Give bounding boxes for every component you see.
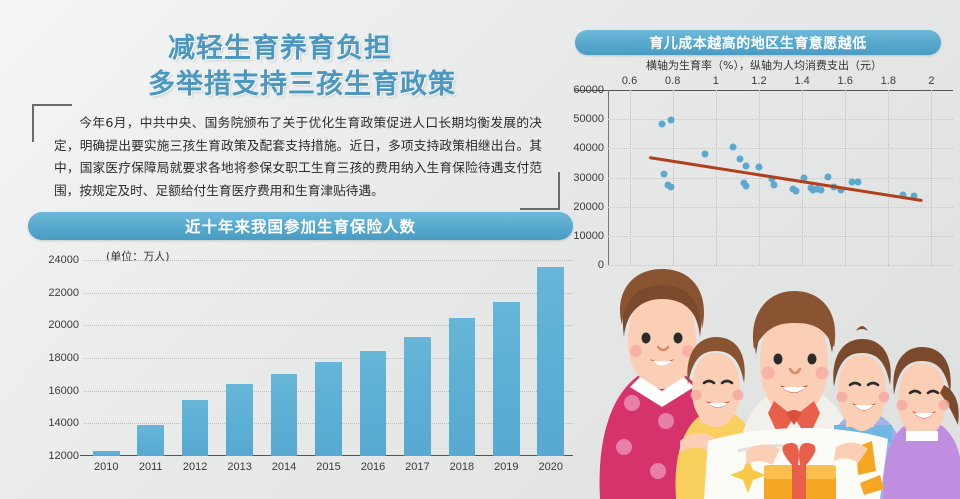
bar-x-tick: 2013 <box>227 461 251 473</box>
bar-x-tick: 2012 <box>183 461 207 473</box>
bar-chart-banner: 近十年来我国参加生育保险人数 <box>28 212 573 240</box>
scatter-point <box>771 181 778 188</box>
bar-x-tick: 2010 <box>94 461 118 473</box>
scatter-point <box>667 183 674 190</box>
scatter-point <box>743 182 750 189</box>
scatter-point <box>667 117 674 124</box>
scatter-hgridline <box>608 148 953 149</box>
scatter-chart-subtitle: 横轴为生育率（%），纵轴为人均消费支出（元） <box>569 57 959 73</box>
bar-chart-bar <box>182 400 209 456</box>
scatter-y-tick: 60000 <box>573 84 604 96</box>
scatter-point <box>661 171 668 178</box>
bar-chart-panel: 近十年来我国参加生育保险人数 (单位：万人) 12000140001600018… <box>28 212 573 487</box>
bar-chart-bar <box>315 362 342 456</box>
bar-y-tick: 18000 <box>48 352 79 364</box>
scatter-point <box>702 151 709 158</box>
bar-chart-bar <box>493 302 520 456</box>
scatter-hgridline <box>608 207 953 208</box>
scatter-y-tick: 40000 <box>573 142 604 154</box>
bar-chart-bar <box>449 318 476 456</box>
scatter-x-tick: 0.6 <box>622 75 637 87</box>
bar-x-tick: 2018 <box>450 461 474 473</box>
scatter-point <box>818 187 825 194</box>
scatter-point <box>855 178 862 185</box>
bar-x-tick: 2015 <box>316 461 340 473</box>
scatter-point <box>658 121 665 128</box>
infographic-root: 减轻生育养育负担 多举措支持三孩生育政策 今年6月，中共中央、国务院颁布了关于优… <box>0 0 960 499</box>
bar-x-tick: 2011 <box>139 461 163 473</box>
bar-y-tick: 12000 <box>48 450 79 462</box>
intro-paragraph-block: 今年6月，中共中央、国务院颁布了关于优化生育政策促进人口长期均衡发展的决定，明确… <box>32 104 560 210</box>
bar-x-tick: 2014 <box>272 461 296 473</box>
scatter-x-tick: 1.4 <box>794 75 809 87</box>
bar-x-tick: 2020 <box>539 461 563 473</box>
scatter-point <box>743 162 750 169</box>
bar-chart-bar <box>537 267 564 456</box>
bar-chart-bar <box>93 451 120 456</box>
bar-x-tick: 2017 <box>405 461 429 473</box>
scatter-point <box>755 164 762 171</box>
scatter-y-tick: 20000 <box>573 201 604 213</box>
scatter-point <box>824 174 831 181</box>
bar-chart-bar <box>360 351 387 456</box>
scatter-point <box>736 156 743 163</box>
bar-x-tick: 2016 <box>361 461 385 473</box>
bar-y-tick: 16000 <box>48 385 79 397</box>
child-purple-figure <box>883 347 960 499</box>
scatter-x-tick: 1.6 <box>838 75 853 87</box>
scatter-x-tick: 1 <box>713 75 719 87</box>
intro-paragraph-text: 今年6月，中共中央、国务院颁布了关于优化生育政策促进人口长期均衡发展的决定，明确… <box>54 112 542 202</box>
bar-gridline <box>84 260 573 261</box>
scatter-top-axis <box>574 90 953 91</box>
bar-x-tick: 2019 <box>494 461 518 473</box>
scatter-y-tick: 30000 <box>573 172 604 184</box>
bar-gridline <box>84 293 573 294</box>
bar-y-tick: 22000 <box>48 287 79 299</box>
bar-y-tick: 20000 <box>48 319 79 331</box>
scatter-chart-banner: 育儿成本越高的地区生育意愿越低 <box>575 30 941 55</box>
bar-chart-bar <box>271 374 298 456</box>
scatter-x-tick: 1.2 <box>751 75 766 87</box>
scatter-x-tick: 2 <box>928 75 934 87</box>
family-illustration <box>588 225 960 499</box>
headline-line-2: 多举措支持三孩生育政策 <box>148 66 580 102</box>
scatter-trendline <box>649 156 923 202</box>
scatter-point <box>730 144 737 151</box>
scatter-point <box>792 187 799 194</box>
bar-chart-bar <box>404 337 431 456</box>
scatter-y-tick: 50000 <box>573 113 604 125</box>
bar-chart-bar <box>137 425 164 456</box>
bar-y-tick: 14000 <box>48 417 79 429</box>
page-title: 减轻生育养育负担 多举措支持三孩生育政策 <box>160 30 580 102</box>
bar-y-tick: 24000 <box>48 254 79 266</box>
scatter-x-tick: 1.8 <box>881 75 896 87</box>
bar-chart-bar <box>226 384 253 456</box>
headline-line-1: 减轻生育养育负担 <box>168 30 580 66</box>
bar-chart-plot: 1200014000160001800020000220002400020102… <box>84 260 573 456</box>
scatter-x-tick: 0.8 <box>665 75 680 87</box>
